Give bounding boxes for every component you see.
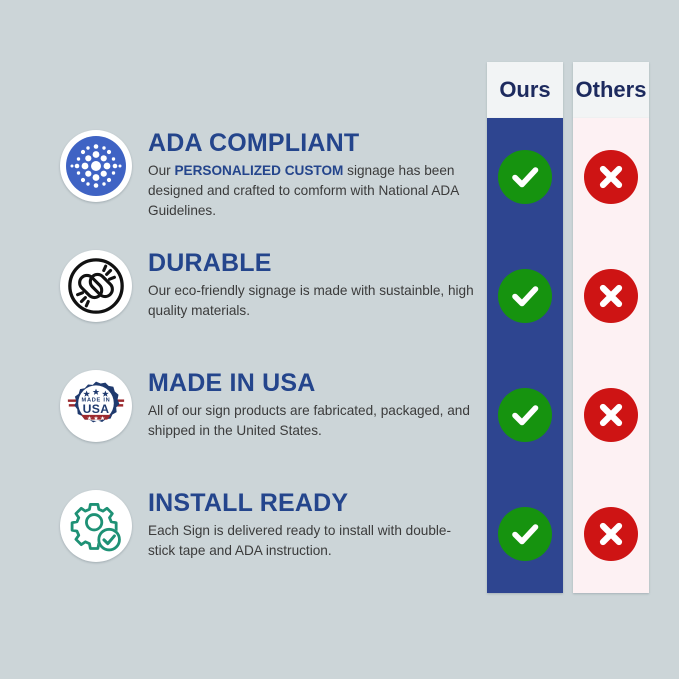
check-icon [498,269,552,323]
desc-emphasis: PERSONALIZED CUSTOM [174,163,343,178]
comparison-infographic: ADA COMPLIANT Our PERSONALIZED CUSTOM si… [0,0,679,679]
feature-text-block: DURABLE Our eco-friendly signage is made… [148,242,478,321]
made-in-usa-badge-icon: MADE IN USA [60,370,132,442]
check-icon [498,507,552,561]
feature-text-block: INSTALL READY Each Sign is delivered rea… [148,482,478,561]
feature-description: Each Sign is delivered ready to install … [148,521,478,561]
check-icon [498,388,552,442]
feature-description: Our PERSONALIZED CUSTOM signage has been… [148,161,478,221]
column-header-label: Ours [499,77,550,103]
gear-check-icon [60,490,132,562]
cross-icon [584,507,638,561]
feature-row-made-in-usa: MADE IN USA MADE IN USA All of our sign … [60,362,480,458]
cross-icon [584,150,638,204]
comparison-column-ours: Ours [487,62,563,593]
feature-text-block: ADA COMPLIANT Our PERSONALIZED CUSTOM si… [148,122,478,221]
column-header-ours: Ours [487,62,563,118]
feature-row-install-ready: INSTALL READY Each Sign is delivered rea… [60,482,480,578]
feature-title: MADE IN USA [148,370,478,396]
feature-row-durable: DURABLE Our eco-friendly signage is made… [60,242,480,338]
feature-title: DURABLE [148,250,478,276]
feature-text-block: MADE IN USA All of our sign products are… [148,362,478,441]
feature-row-ada-compliant: ADA COMPLIANT Our PERSONALIZED CUSTOM si… [60,122,480,218]
check-icon [498,150,552,204]
svg-text:USA: USA [83,402,110,416]
feature-title: ADA COMPLIANT [148,130,478,156]
dot-pattern-circle-icon [60,130,132,202]
cross-icon [584,388,638,442]
column-header-others: Others [573,62,649,118]
feature-title: INSTALL READY [148,490,478,516]
column-header-label: Others [576,77,647,103]
column-body-ours [487,118,563,593]
comparison-column-others: Others [573,62,649,593]
unbreakable-chain-link-icon [60,250,132,322]
column-body-others [573,118,649,593]
feature-description: All of our sign products are fabricated,… [148,401,478,441]
cross-icon [584,269,638,323]
feature-description: Our eco-friendly signage is made with su… [148,281,478,321]
desc-pre: Our [148,163,174,178]
